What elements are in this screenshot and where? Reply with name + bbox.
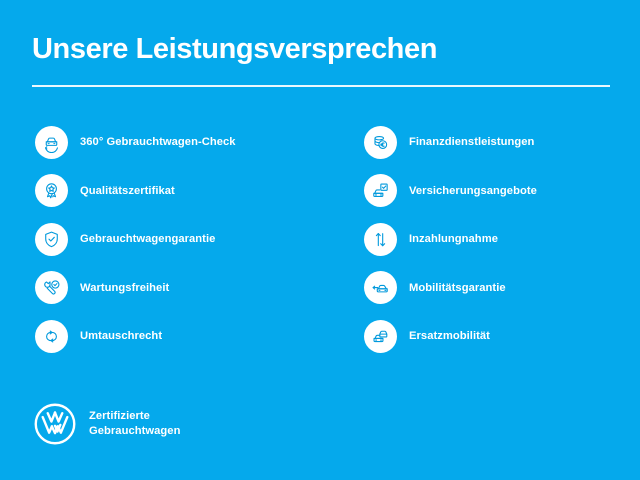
- promise-item: Ersatzmobilität: [364, 312, 640, 361]
- tow-car-icon: [364, 271, 397, 304]
- car-document-icon: [364, 174, 397, 207]
- up-down-arrows-icon: [364, 223, 397, 256]
- promises-grid: 360° Gebrauchtwagen-Check Qualitätszerti…: [0, 118, 640, 361]
- brand-line-2: Gebrauchtwagen: [89, 424, 180, 439]
- page-title: Unsere Leistungsversprechen: [32, 32, 610, 66]
- promise-label: Inzahlungnahme: [409, 233, 498, 245]
- promise-label: Qualitätszertifikat: [80, 185, 175, 197]
- volkswagen-logo-icon: [33, 402, 77, 446]
- promises-column-right: Finanzdienstleistungen Versicherungsange…: [364, 118, 640, 361]
- two-cars-icon: [364, 320, 397, 353]
- award-rosette-icon: [35, 174, 68, 207]
- header-divider: [32, 85, 610, 87]
- euro-coins-icon: [364, 126, 397, 159]
- promise-label: Umtauschrecht: [80, 330, 162, 342]
- promise-label: Gebrauchtwagengarantie: [80, 233, 215, 245]
- promise-item: Wartungsfreiheit: [35, 264, 355, 313]
- promise-item: Finanzdienstleistungen: [364, 118, 640, 167]
- promises-poster: Unsere Leistungsversprechen 360° Gebrauc…: [0, 0, 640, 480]
- shield-check-icon: [35, 223, 68, 256]
- promise-label: Ersatzmobilität: [409, 330, 490, 342]
- promise-item: Mobilitätsgarantie: [364, 264, 640, 313]
- exchange-arrows-icon: [35, 320, 68, 353]
- promise-label: 360° Gebrauchtwagen-Check: [80, 136, 236, 148]
- promise-label: Finanzdienstleistungen: [409, 136, 534, 148]
- promise-label: Wartungsfreiheit: [80, 282, 169, 294]
- brand-lockup: Zertifizierte Gebrauchtwagen: [33, 402, 180, 446]
- promise-item: Inzahlungnahme: [364, 215, 640, 264]
- promise-label: Mobilitätsgarantie: [409, 282, 506, 294]
- promises-column-left: 360° Gebrauchtwagen-Check Qualitätszerti…: [35, 118, 355, 361]
- brand-line-1: Zertifizierte: [89, 409, 180, 424]
- promise-item: Gebrauchtwagengarantie: [35, 215, 355, 264]
- promise-item: Qualitätszertifikat: [35, 167, 355, 216]
- promise-item: Versicherungsangebote: [364, 167, 640, 216]
- header: Unsere Leistungsversprechen: [32, 32, 610, 66]
- brand-text: Zertifizierte Gebrauchtwagen: [89, 409, 180, 439]
- promise-item: Umtauschrecht: [35, 312, 355, 361]
- wrench-check-icon: [35, 271, 68, 304]
- promise-item: 360° Gebrauchtwagen-Check: [35, 118, 355, 167]
- promise-label: Versicherungsangebote: [409, 185, 537, 197]
- car-360-check-icon: [35, 126, 68, 159]
